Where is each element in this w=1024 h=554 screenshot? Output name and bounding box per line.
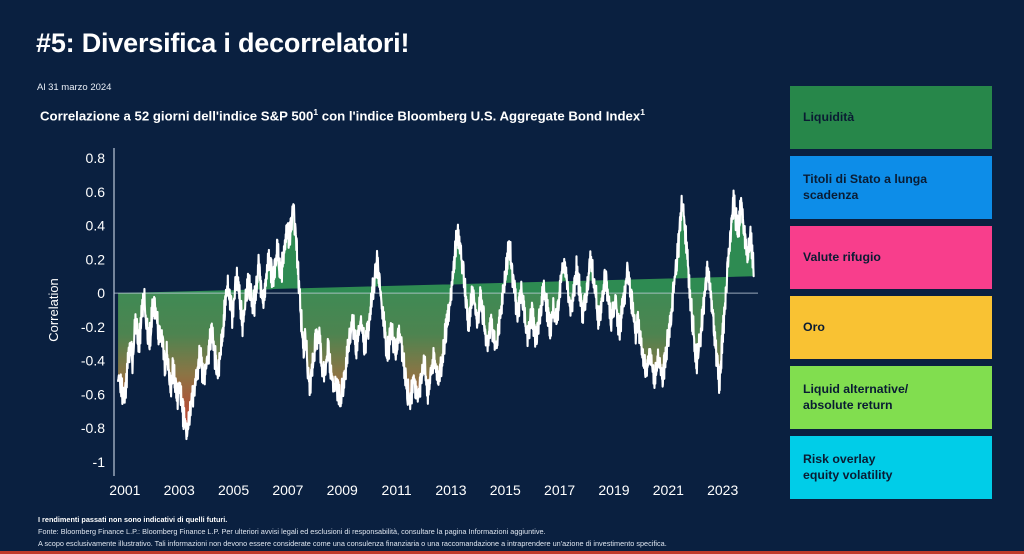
legend-item-6[interactable]: Risk overlay equity volatility (790, 436, 992, 499)
chart-x-axis: 2001200320052007200920112013201520172019… (109, 482, 738, 498)
footer-line: I rendimenti passati non sono indicativi… (38, 514, 998, 526)
legend-item-4[interactable]: Oro (790, 296, 992, 359)
slide-root: #5: Diversifica i decorrelatori! Al 31 m… (0, 0, 1024, 554)
chart-title-footnote-2: 1 (640, 107, 645, 117)
chart-y-axis-title: Correlation (46, 278, 61, 342)
legend-item-label: Risk overlay equity volatility (803, 452, 893, 483)
chart-positive-fill (118, 191, 754, 294)
x-tick-label: 2001 (109, 482, 140, 498)
y-axis-title-text: Correlation (46, 278, 61, 342)
y-tick-label: 0.4 (86, 218, 106, 234)
footer-disclaimer: I rendimenti passati non sono indicativi… (38, 514, 998, 549)
page-title: #5: Diversifica i decorrelatori! (36, 28, 409, 59)
x-tick-label: 2017 (544, 482, 575, 498)
chart-svg: 0.80.60.40.20-0.2-0.4-0.6-0.8-1 20012003… (36, 140, 766, 500)
legend-item-label: Liquid alternative/ absolute return (803, 382, 908, 413)
chart-y-axis: 0.80.60.40.20-0.2-0.4-0.6-0.8-1 (81, 148, 114, 476)
x-tick-label: 2019 (598, 482, 629, 498)
x-tick-label: 2013 (435, 482, 466, 498)
positive-area (118, 191, 754, 294)
legend-item-label: Oro (803, 320, 825, 336)
legend-item-5[interactable]: Liquid alternative/ absolute return (790, 366, 992, 429)
correlation-chart: 0.80.60.40.20-0.2-0.4-0.6-0.8-1 20012003… (36, 140, 766, 500)
y-tick-label: -1 (93, 454, 106, 470)
x-tick-label: 2009 (327, 482, 358, 498)
as-of-date: Al 31 marzo 2024 (37, 82, 111, 93)
x-tick-label: 2023 (707, 482, 738, 498)
y-tick-label: 0.2 (86, 251, 106, 267)
x-tick-label: 2021 (653, 482, 684, 498)
x-tick-label: 2007 (272, 482, 303, 498)
y-tick-label: -0.8 (81, 420, 105, 436)
legend-item-3[interactable]: Valute rifugio (790, 226, 992, 289)
legend-item-label: Liquidità (803, 110, 854, 126)
footer-line: Fonte: Bloomberg Finance L.P.: Bloomberg… (38, 526, 998, 538)
y-tick-label: -0.4 (81, 353, 105, 369)
chart-title-part-1: Correlazione a 52 giorni dell'indice S&P… (40, 108, 313, 123)
chart-title-part-2: con l'indice Bloomberg U.S. Aggregate Bo… (318, 108, 640, 123)
y-tick-label: 0.6 (86, 184, 106, 200)
legend-item-label: Valute rifugio (803, 250, 881, 266)
y-tick-label: 0.8 (86, 150, 106, 166)
legend-item-1[interactable]: Liquidità (790, 86, 992, 149)
x-tick-label: 2011 (382, 482, 412, 498)
y-tick-label: -0.2 (81, 319, 105, 335)
legend-item-label: Titoli di Stato a lunga scadenza (803, 172, 927, 203)
chart-title: Correlazione a 52 giorni dell'indice S&P… (40, 107, 645, 123)
x-tick-label: 2003 (164, 482, 195, 498)
footer-line: A scopo esclusivamente illustrativo. Tal… (38, 538, 998, 550)
legend-item-2[interactable]: Titoli di Stato a lunga scadenza (790, 156, 992, 219)
y-tick-label: -0.6 (81, 386, 105, 402)
x-tick-label: 2005 (218, 482, 249, 498)
y-tick-label: 0 (97, 285, 105, 301)
x-tick-label: 2015 (490, 482, 521, 498)
